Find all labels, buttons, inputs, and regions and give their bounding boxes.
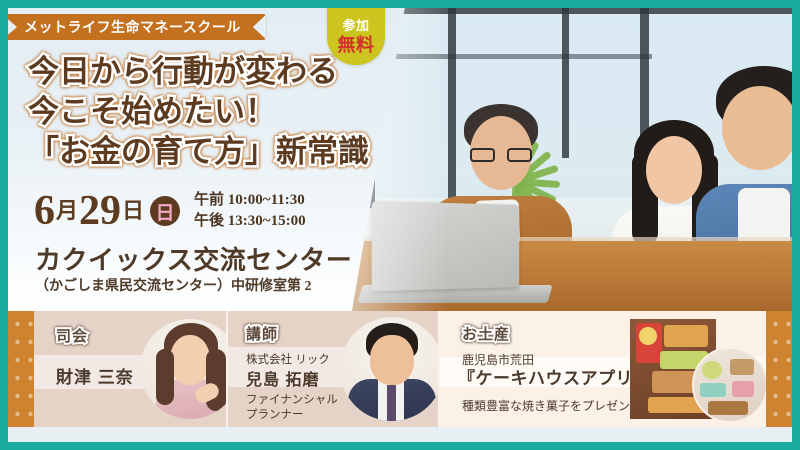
souvenir-inset-photo (692, 347, 766, 423)
badge-line1: 参加 (327, 8, 385, 32)
panel-lecturer: 講師 株式会社 リック 兒島 拓磨 ファイナンシャル プランナー (228, 311, 438, 427)
souvenir-tag: お土産 (462, 323, 510, 344)
event-day-unit: 日 (121, 190, 145, 232)
pastry (708, 401, 748, 415)
event-poster: メットライフ生命マネースクール 参加 無料 今日から行動が変わる 今こそ始めたい… (0, 0, 800, 450)
pastry (700, 383, 726, 397)
venue-block: カクイックス交流センター （かごしま県民交流センター）中研修室第 2 (35, 246, 352, 297)
lecturer-note-line2: プランナー (246, 406, 304, 422)
credits-bar: 司会 財津 三奈 講師 株式会社 リック (8, 311, 792, 427)
free-participation-badge: 参加 無料 (327, 8, 385, 65)
event-month-unit: 月 (55, 190, 79, 232)
window-mullion (352, 54, 652, 59)
venue-sub: （かごしま県民交流センター）中研修室第 2 (35, 277, 352, 297)
pastry (732, 381, 754, 397)
brand-ribbon-label: メットライフ生命マネースクール (24, 19, 241, 35)
mc-tag: 司会 (56, 325, 88, 346)
dot-pattern-right (766, 311, 792, 427)
badge-line2: 無料 (327, 32, 385, 55)
headline-line-2: 今こそ始めたい！ (28, 92, 378, 132)
souvenir-note: 種類豊富な焼き菓子をプレゼント (462, 397, 642, 414)
date-time-row: 6 月 29 日 日 午前 10:00~11:30 午後 13:30~15:00 (34, 190, 306, 232)
glasses-icon (470, 148, 532, 162)
headline-line-1: 今日から行動が変わる (28, 52, 378, 92)
headline-line-3: 「お金の育て方」新常識 (28, 132, 378, 172)
brand-ribbon: メットライフ生命マネースクール (8, 14, 267, 40)
lecturer-tag: 講師 (246, 323, 278, 344)
weekday-badge: 日 (150, 196, 180, 226)
head (722, 86, 792, 170)
event-month-number: 6 (34, 190, 55, 232)
lecturer-org: 株式会社 リック (246, 351, 330, 367)
panel-mc: 司会 財津 三奈 (34, 311, 226, 427)
event-day-number: 29 (79, 190, 121, 232)
head (646, 136, 702, 204)
lecturer-avatar (340, 317, 438, 421)
dot-pattern-left (8, 311, 34, 427)
mc-avatar (140, 319, 226, 419)
mc-name: 財津 三奈 (56, 363, 134, 388)
upper-section: メットライフ生命マネースクール 参加 無料 今日から行動が変わる 今こそ始めたい… (8, 8, 792, 311)
event-times: 午前 10:00~11:30 午後 13:30~15:00 (194, 190, 306, 232)
window-mullion (352, 8, 792, 14)
venue-name: カクイックス交流センター (35, 246, 352, 276)
pastry (702, 361, 722, 379)
time-afternoon: 午後 13:30~15:00 (194, 211, 306, 232)
laptop-screen (372, 201, 520, 291)
panel-souvenir: お土産 鹿児島市荒田 『ケーキハウスアプリコット』 種類豊富な焼き菓子をプレゼン… (440, 311, 766, 427)
poster-inner: メットライフ生命マネースクール 参加 無料 今日から行動が変わる 今こそ始めたい… (8, 8, 792, 442)
bottom-strip (8, 427, 792, 442)
lecturer-photo (340, 317, 438, 421)
lecturer-name: 兒島 拓磨 (246, 366, 319, 390)
mc-photo (140, 319, 226, 419)
pastry (730, 359, 754, 375)
time-morning: 午前 10:00~11:30 (194, 190, 306, 211)
headline: 今日から行動が変わる 今こそ始めたい！ 「お金の育て方」新常識 (28, 52, 378, 172)
lecturer-note-line1: ファイナンシャル (246, 391, 338, 407)
pastry (664, 325, 708, 347)
consultation-photo (352, 8, 792, 311)
